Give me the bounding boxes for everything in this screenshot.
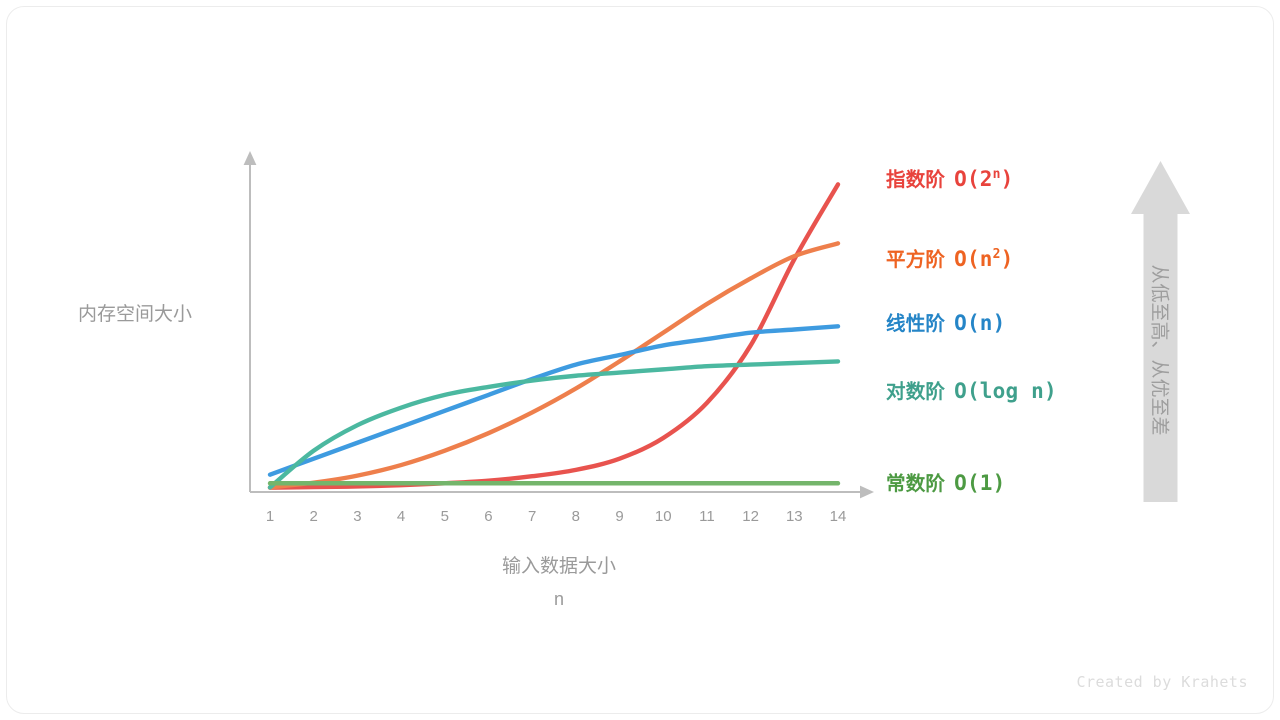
series-label-complexity: O(log n) [954,379,1057,403]
series-label-constant: 常数阶O(1) [886,467,1005,496]
footer-credit: Created by Krahets [1076,673,1248,691]
x-tick-label: 6 [473,508,503,525]
series-curve [270,361,838,487]
x-tick-label: 10 [648,508,678,525]
x-tick-label: 14 [823,508,853,525]
series-label-complexity: O(2n) [954,167,1013,191]
x-tick-label: 13 [779,508,809,525]
series-label-exponential: 指数阶O(2n) [886,163,1014,192]
series-label-quadratic: 平方阶O(n2) [886,243,1014,272]
x-tick-label: 8 [561,508,591,525]
x-tick-label: 1 [255,508,285,525]
series-label-complexity: O(1) [954,471,1005,495]
direction-arrow-label: 从低至高、从优至差 [1148,264,1175,435]
x-tick-label: 9 [605,508,635,525]
x-tick-label: 5 [430,508,460,525]
series-label-cn: 对数阶 [886,381,945,403]
chart-stage: 内存空间大小 输入数据大小 n 1234567891011121314 指数阶O… [0,0,1280,720]
series-group [270,184,838,487]
chart-canvas [0,0,1280,720]
x-axis-label: 输入数据大小 [250,551,868,578]
series-label-logarithmic: 对数阶O(log n) [886,375,1057,404]
x-tick-label: 2 [299,508,329,525]
x-tick-label: 7 [517,508,547,525]
series-label-cn: 常数阶 [886,473,945,495]
series-label-complexity: O(n) [954,311,1005,335]
x-tick-label: 4 [386,508,416,525]
x-tick-label: 3 [342,508,372,525]
series-label-linear: 线性阶O(n) [886,307,1005,336]
x-tick-label: 11 [692,508,722,525]
series-label-cn: 线性阶 [886,313,945,335]
x-tick-label: 12 [736,508,766,525]
series-label-cn: 指数阶 [886,169,945,191]
series-label-cn: 平方阶 [886,249,945,271]
axis-lines [250,163,862,492]
y-axis-label: 内存空间大小 [78,299,192,326]
series-label-complexity: O(n2) [954,247,1013,271]
x-axis-label-variable: n [250,589,868,610]
